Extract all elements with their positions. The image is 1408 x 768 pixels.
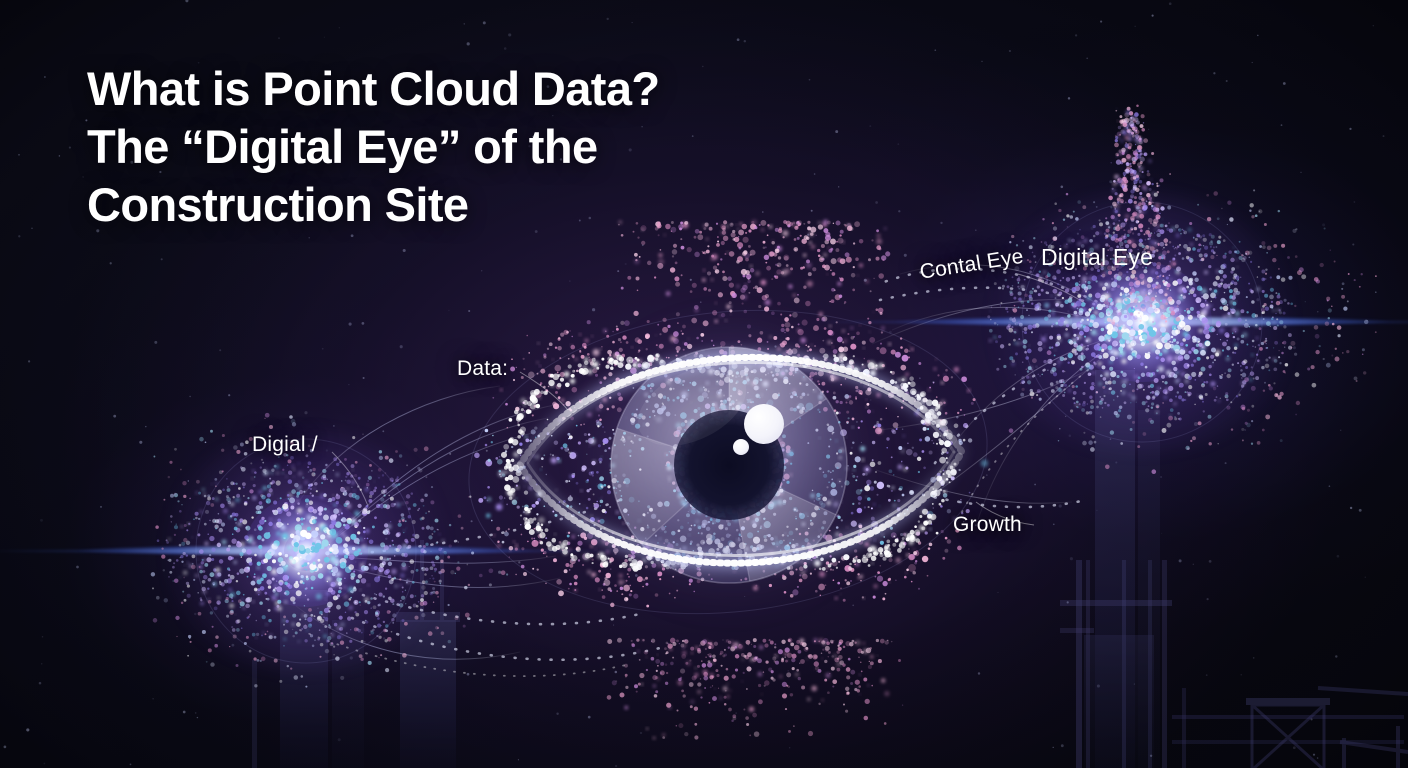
label-growth: Growth <box>953 513 1022 537</box>
label-data: Data: <box>457 357 508 381</box>
pupil-highlight-small <box>733 439 749 455</box>
label-digial: Digial / <box>252 433 318 457</box>
page-title: What is Point Cloud Data? The “Digital E… <box>87 60 659 234</box>
hero-banner: What is Point Cloud Data? The “Digital E… <box>0 0 1408 768</box>
pupil-highlight-large <box>744 404 784 444</box>
label-digital-eye: Digital Eye <box>1041 244 1153 271</box>
